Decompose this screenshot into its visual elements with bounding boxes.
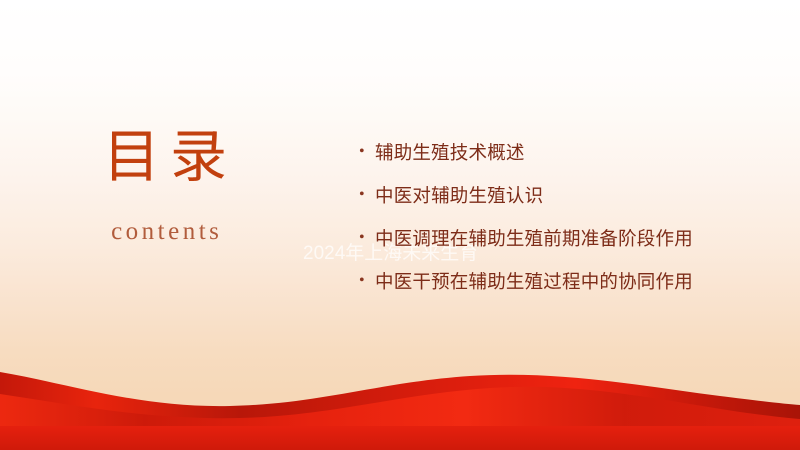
wave-back <box>0 372 800 450</box>
wave-front <box>0 387 800 450</box>
wave-base <box>0 426 800 450</box>
page-subtitle: contents <box>0 218 330 246</box>
slide-canvas: 目录 contents 2024年上海未来生育 辅助生殖技术概述 中医对辅助生殖… <box>0 0 800 450</box>
list-item[interactable]: 中医干预在辅助生殖过程中的协同作用 <box>358 269 718 299</box>
list-item[interactable]: 辅助生殖技术概述 <box>358 140 718 170</box>
list-item[interactable]: 中医调理在辅助生殖前期准备阶段作用 <box>358 226 718 256</box>
table-of-contents-list: 辅助生殖技术概述 中医对辅助生殖认识 中医调理在辅助生殖前期准备阶段作用 中医干… <box>358 140 718 299</box>
page-title: 目录 <box>0 128 330 188</box>
title-block: 目录 contents <box>0 128 330 246</box>
list-item[interactable]: 中医对辅助生殖认识 <box>358 183 718 213</box>
red-wave-decoration <box>0 360 800 450</box>
